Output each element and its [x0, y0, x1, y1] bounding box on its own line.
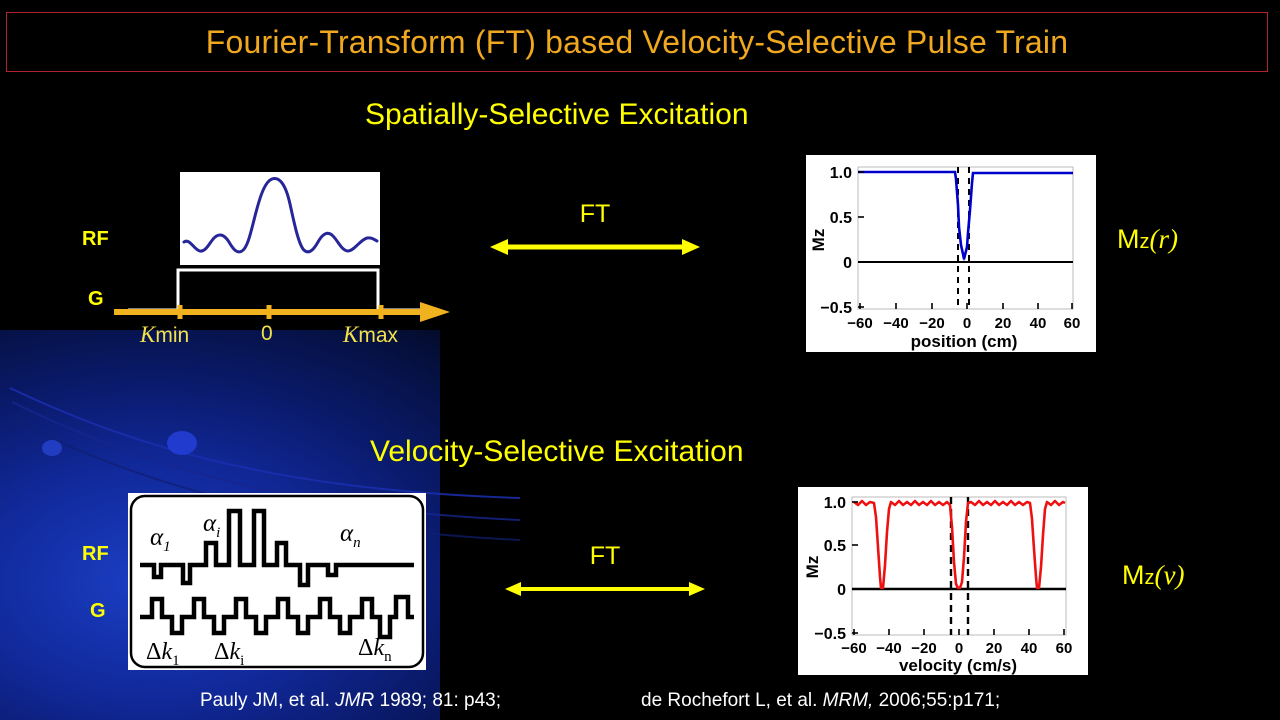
chart-velocity-ylabel: Mz — [803, 556, 822, 579]
chart-position-profile-svg: 1.0 0.5 0 −0.5 −60 −40 −20 0 20 40 60 po… — [806, 155, 1096, 352]
chart-velocity-xtick-4: 0 — [955, 640, 963, 657]
g-label-spatial: G — [88, 288, 104, 311]
chart-position-xtick-4: 0 — [963, 315, 971, 332]
k-axis-tick-kmin-suffix: min — [155, 324, 189, 347]
chart-velocity-xtick-3: −20 — [911, 640, 936, 657]
chart-position-xtick-3: −20 — [919, 315, 944, 332]
output-label-mz-v: Mz(v) — [1122, 560, 1184, 591]
ft-double-arrow-icon-spatial — [490, 236, 700, 258]
chart-position-xtick-7: 60 — [1064, 315, 1081, 332]
chart-velocity-profile: 1.0 0.5 0 −0.5 −60 −40 −20 0 20 40 60 ve… — [798, 487, 1088, 675]
pulse-train-label-dk-i: Δki — [214, 639, 244, 669]
k-axis-tick-kmax-suffix: max — [358, 324, 398, 347]
output-label-mz-r: Mz(r) — [1117, 224, 1178, 255]
output-label-mz-r-main: M — [1117, 224, 1140, 254]
chart-velocity-ytick-1: 1.0 — [824, 495, 846, 512]
ft-double-arrow-icon-velocity — [505, 579, 705, 599]
citation-pauly-authors: Pauly JM, et al. — [200, 690, 335, 711]
chart-velocity-xtick-7: 60 — [1056, 640, 1073, 657]
k-axis-tick-kmin: Kmin — [140, 322, 189, 348]
ft-label-velocity: FT — [590, 542, 621, 571]
section-heading-spatial: Spatially-Selective Excitation — [365, 98, 749, 132]
chart-position-ytick-3: 0 — [843, 255, 852, 272]
chart-position-xtick-1: −60 — [847, 315, 872, 332]
section-heading-velocity: Velocity-Selective Excitation — [370, 435, 744, 469]
output-label-mz-v-sub: z — [1145, 567, 1155, 589]
chart-position-xtick-5: 20 — [995, 315, 1012, 332]
page-title: Fourier-Transform (FT) based Velocity-Se… — [206, 24, 1068, 61]
chart-velocity-ytick-2: 0.5 — [824, 538, 846, 555]
sinc-waveform-icon — [180, 172, 380, 265]
chart-position-xtick-2: −40 — [883, 315, 908, 332]
chart-position-profile: 1.0 0.5 0 −0.5 −60 −40 −20 0 20 40 60 po… — [806, 155, 1096, 352]
k-axis-tick-kmax-symbol: K — [343, 322, 358, 347]
chart-velocity-xtick-1: −60 — [841, 640, 866, 657]
citation-de-rochefort: de Rochefort L, et al. MRM, 2006;55:p171… — [641, 690, 1000, 712]
output-label-mz-r-sub: z — [1140, 231, 1150, 253]
chart-position-xtick-6: 40 — [1030, 315, 1047, 332]
chart-position-xlabel: position (cm) — [911, 332, 1018, 351]
output-label-mz-v-arg: (v) — [1155, 560, 1185, 590]
chart-velocity-xtick-5: 20 — [986, 640, 1003, 657]
rf-label-spatial: RF — [82, 228, 109, 251]
ft-label-spatial: FT — [580, 200, 611, 229]
rf-label-velocity: RF — [82, 543, 109, 566]
citation-pauly-detail: 1989; 81: p43; — [374, 690, 501, 711]
k-axis-tick-kmin-symbol: K — [140, 322, 155, 347]
chart-position-ytick-1: 1.0 — [830, 165, 852, 182]
citation-de-rochefort-journal: MRM, — [823, 690, 874, 711]
g-label-velocity: G — [90, 600, 106, 623]
chart-velocity-ytick-3: 0 — [837, 582, 846, 599]
citation-de-rochefort-detail: 2006;55:p171; — [873, 690, 1000, 711]
citation-pauly: Pauly JM, et al. JMR 1989; 81: p43; — [200, 690, 501, 712]
k-space-axis: Kmin 0 Kmax — [110, 300, 455, 362]
title-bar: Fourier-Transform (FT) based Velocity-Se… — [6, 12, 1268, 72]
pulse-train-diagram-svg: α1 αi αn Δk1 Δki Δkn — [128, 493, 426, 670]
ft-arrow-group-spatial: FT — [490, 200, 700, 260]
citation-de-rochefort-authors: de Rochefort L, et al. — [641, 690, 823, 711]
k-axis-tick-zero: 0 — [261, 322, 273, 346]
chart-velocity-xtick-6: 40 — [1021, 640, 1038, 657]
chart-velocity-xlabel: velocity (cm/s) — [899, 656, 1017, 675]
rf-sinc-waveform-panel — [180, 172, 380, 265]
chart-velocity-xtick-2: −40 — [876, 640, 901, 657]
citation-pauly-journal: JMR — [335, 690, 374, 711]
chart-position-ylabel: Mz — [809, 229, 828, 252]
ft-arrow-group-velocity: FT — [505, 542, 705, 602]
k-axis-tick-kmax: Kmax — [343, 322, 398, 348]
pulse-train-diagram-panel: α1 αi αn Δk1 Δki Δkn — [128, 493, 426, 670]
chart-position-ytick-2: 0.5 — [830, 210, 852, 227]
slide-root: Fourier-Transform (FT) based Velocity-Se… — [0, 0, 1280, 720]
output-label-mz-r-arg: (r) — [1150, 224, 1179, 254]
output-label-mz-v-main: M — [1122, 560, 1145, 590]
chart-velocity-profile-svg: 1.0 0.5 0 −0.5 −60 −40 −20 0 20 40 60 ve… — [798, 487, 1088, 675]
